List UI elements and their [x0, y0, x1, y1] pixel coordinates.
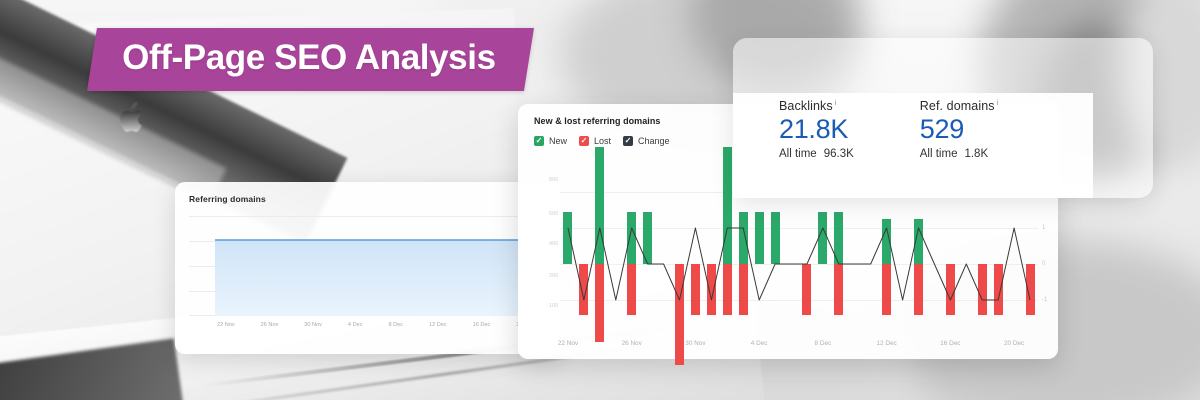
alltime-value: 96.3K — [824, 148, 854, 160]
alltime-value: 1.8K — [964, 148, 988, 160]
apple-logo-icon — [120, 102, 146, 134]
x-tick: 22 Nov — [558, 340, 578, 347]
x-tick: 20 Dec — [1004, 340, 1024, 347]
x-tick: 8 Dec — [815, 340, 832, 347]
legend-item-change[interactable]: ✓ Change — [623, 136, 670, 146]
x-tick: 12 Dec — [429, 322, 447, 336]
stat-backlinks: Backlinksi 21.8K All time96.3K — [779, 99, 854, 160]
checkbox-new-icon[interactable]: ✓ — [534, 136, 544, 146]
y-tick-right: 1 — [1042, 225, 1045, 231]
alltime-label: All time — [920, 148, 958, 160]
page-title: Off-Page SEO Analysis — [122, 40, 495, 77]
legend-label-new: New — [549, 136, 567, 146]
x-tick: 30 Nov — [304, 322, 322, 336]
stats-inner-panel: Backlinksi 21.8K All time96.3K Ref. doma… — [733, 93, 1093, 198]
referring-domains-area-chart — [189, 216, 545, 316]
stat-alltime-backlinks: All time96.3K — [779, 148, 854, 160]
stat-label-ref-domains: Ref. domainsi — [920, 99, 999, 113]
stat-alltime-ref-domains: All time1.8K — [920, 148, 999, 160]
stat-value-ref-domains: 529 — [920, 113, 999, 147]
y-tick: 400 — [549, 241, 558, 247]
x-tick: 4 Dec — [348, 322, 363, 336]
x-tick: 26 Nov — [622, 340, 642, 347]
checkbox-change-icon[interactable]: ✓ — [623, 136, 633, 146]
alltime-label: All time — [779, 148, 817, 160]
area-series — [189, 216, 545, 316]
x-tick: 16 Dec — [473, 322, 491, 336]
x-tick: 4 Dec — [751, 340, 768, 347]
info-icon[interactable]: i — [835, 100, 837, 107]
x-tick: 30 Nov — [685, 340, 705, 347]
card-title: Referring domains — [189, 194, 546, 204]
stat-label-text: Ref. domains — [920, 99, 995, 113]
y-axis-left-labels: 800 600 400 200 100 — [532, 172, 558, 334]
x-axis-labels: 22 Nov 26 Nov 30 Nov 4 Dec 8 Dec 12 Dec … — [189, 322, 552, 336]
stat-label-backlinks: Backlinksi — [779, 99, 854, 113]
x-tick: 16 Dec — [940, 340, 960, 347]
y-tick: 800 — [549, 177, 558, 183]
legend-item-lost[interactable]: ✓ Lost — [579, 136, 611, 146]
info-icon[interactable]: i — [997, 100, 999, 107]
stat-label-text: Backlinks — [779, 99, 833, 113]
y-tick: 100 — [549, 303, 558, 309]
checkbox-lost-icon[interactable]: ✓ — [579, 136, 589, 146]
title-banner: Off-Page SEO Analysis — [87, 28, 534, 91]
y-tick: 200 — [549, 273, 558, 279]
y-tick: 600 — [549, 211, 558, 217]
x-tick: 12 Dec — [877, 340, 897, 347]
y-tick-right: 0 — [1042, 261, 1045, 267]
y-tick-right: -1 — [1042, 297, 1047, 303]
stat-ref-domains: Ref. domainsi 529 All time1.8K — [920, 99, 999, 160]
stat-value-backlinks: 21.8K — [779, 113, 854, 147]
x-axis-labels: 22 Nov26 Nov30 Nov4 Dec8 Dec12 Dec16 Dec… — [560, 340, 1038, 354]
legend-label-lost: Lost — [594, 136, 611, 146]
legend-item-new[interactable]: ✓ New — [534, 136, 567, 146]
legend-label-change: Change — [638, 136, 670, 146]
x-tick: 22 Nov — [217, 322, 235, 336]
stats-card: Backlinksi 21.8K All time96.3K Ref. doma… — [733, 38, 1153, 198]
x-tick: 26 Nov — [261, 322, 279, 336]
x-tick: 8 Dec — [388, 322, 403, 336]
referring-domains-card: Referring domains 22 Nov 26 Nov 30 Nov 4… — [175, 182, 560, 354]
